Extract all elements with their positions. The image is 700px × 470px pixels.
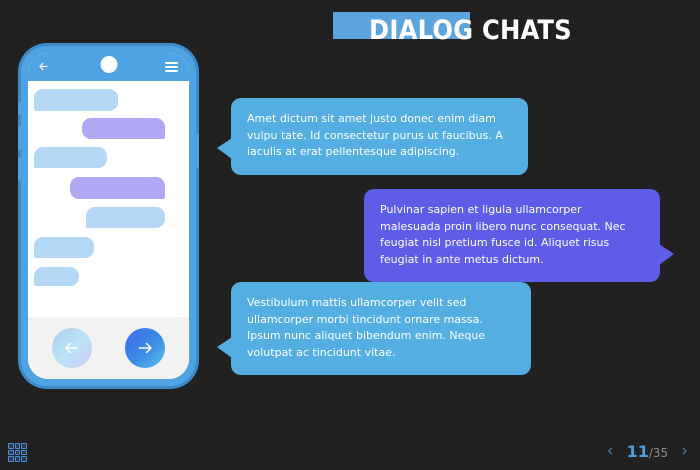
title-highlight-word: DIALOG (369, 15, 473, 46)
phone-prev-button[interactable] (52, 328, 92, 368)
page-current-number: 11 (627, 442, 649, 461)
phone-app-header (28, 53, 189, 81)
phone-chat-list (28, 81, 189, 317)
speech-tail-right-icon (659, 244, 674, 265)
title-rest-word: CHATS (473, 15, 572, 46)
grid-menu-icon[interactable] (8, 443, 27, 462)
title-text: DIALOG CHATS (369, 15, 572, 46)
phone-side-button-power (196, 134, 199, 168)
speech-bubble-text: Amet dictum sit amet justo donec enim di… (247, 112, 503, 158)
speech-bubble-text: Vestibulum mattis ullamcorper velit sed … (247, 296, 485, 359)
pagination-prev-icon[interactable]: ‹ (605, 443, 616, 460)
phone-side-button-mute (18, 102, 21, 115)
page-counter: 11 /35 (627, 442, 669, 461)
phone-message-bubble (86, 207, 165, 228)
phone-message-bubble (34, 147, 107, 168)
phone-side-button-volume-up (18, 126, 21, 150)
slide-canvas: DIALOG CHATS (0, 0, 700, 470)
hamburger-menu-icon[interactable] (165, 62, 178, 72)
speech-tail-left-icon (217, 337, 232, 358)
speech-bubble-incoming-1: Amet dictum sit amet justo donec enim di… (231, 98, 528, 175)
phone-message-bubble (34, 237, 94, 258)
speech-bubble-text: Pulvinar sapien et ligula ullamcorper ma… (380, 203, 626, 266)
page-title: DIALOG CHATS (333, 10, 633, 50)
phone-screen (28, 53, 189, 379)
speech-tail-left-icon (217, 138, 232, 159)
pagination-next-icon[interactable]: › (679, 443, 690, 460)
phone-message-bubble (82, 118, 165, 139)
page-total-number: /35 (649, 446, 668, 460)
arrow-left-icon (61, 337, 83, 359)
back-arrow-icon[interactable] (38, 60, 51, 73)
speech-bubble-incoming-2: Vestibulum mattis ullamcorper velit sed … (231, 282, 531, 375)
phone-next-button[interactable] (125, 328, 165, 368)
phone-mockup (21, 46, 196, 386)
pagination: ‹ 11 /35 › (605, 440, 690, 462)
avatar-circle-icon (100, 56, 117, 73)
phone-message-bubble (34, 89, 118, 111)
phone-nav-footer (28, 317, 189, 379)
phone-side-button-volume-down (18, 157, 21, 181)
arrow-right-icon (134, 337, 156, 359)
phone-message-bubble (34, 267, 79, 286)
speech-bubble-outgoing-1: Pulvinar sapien et ligula ullamcorper ma… (364, 189, 660, 282)
phone-message-bubble (70, 177, 165, 199)
